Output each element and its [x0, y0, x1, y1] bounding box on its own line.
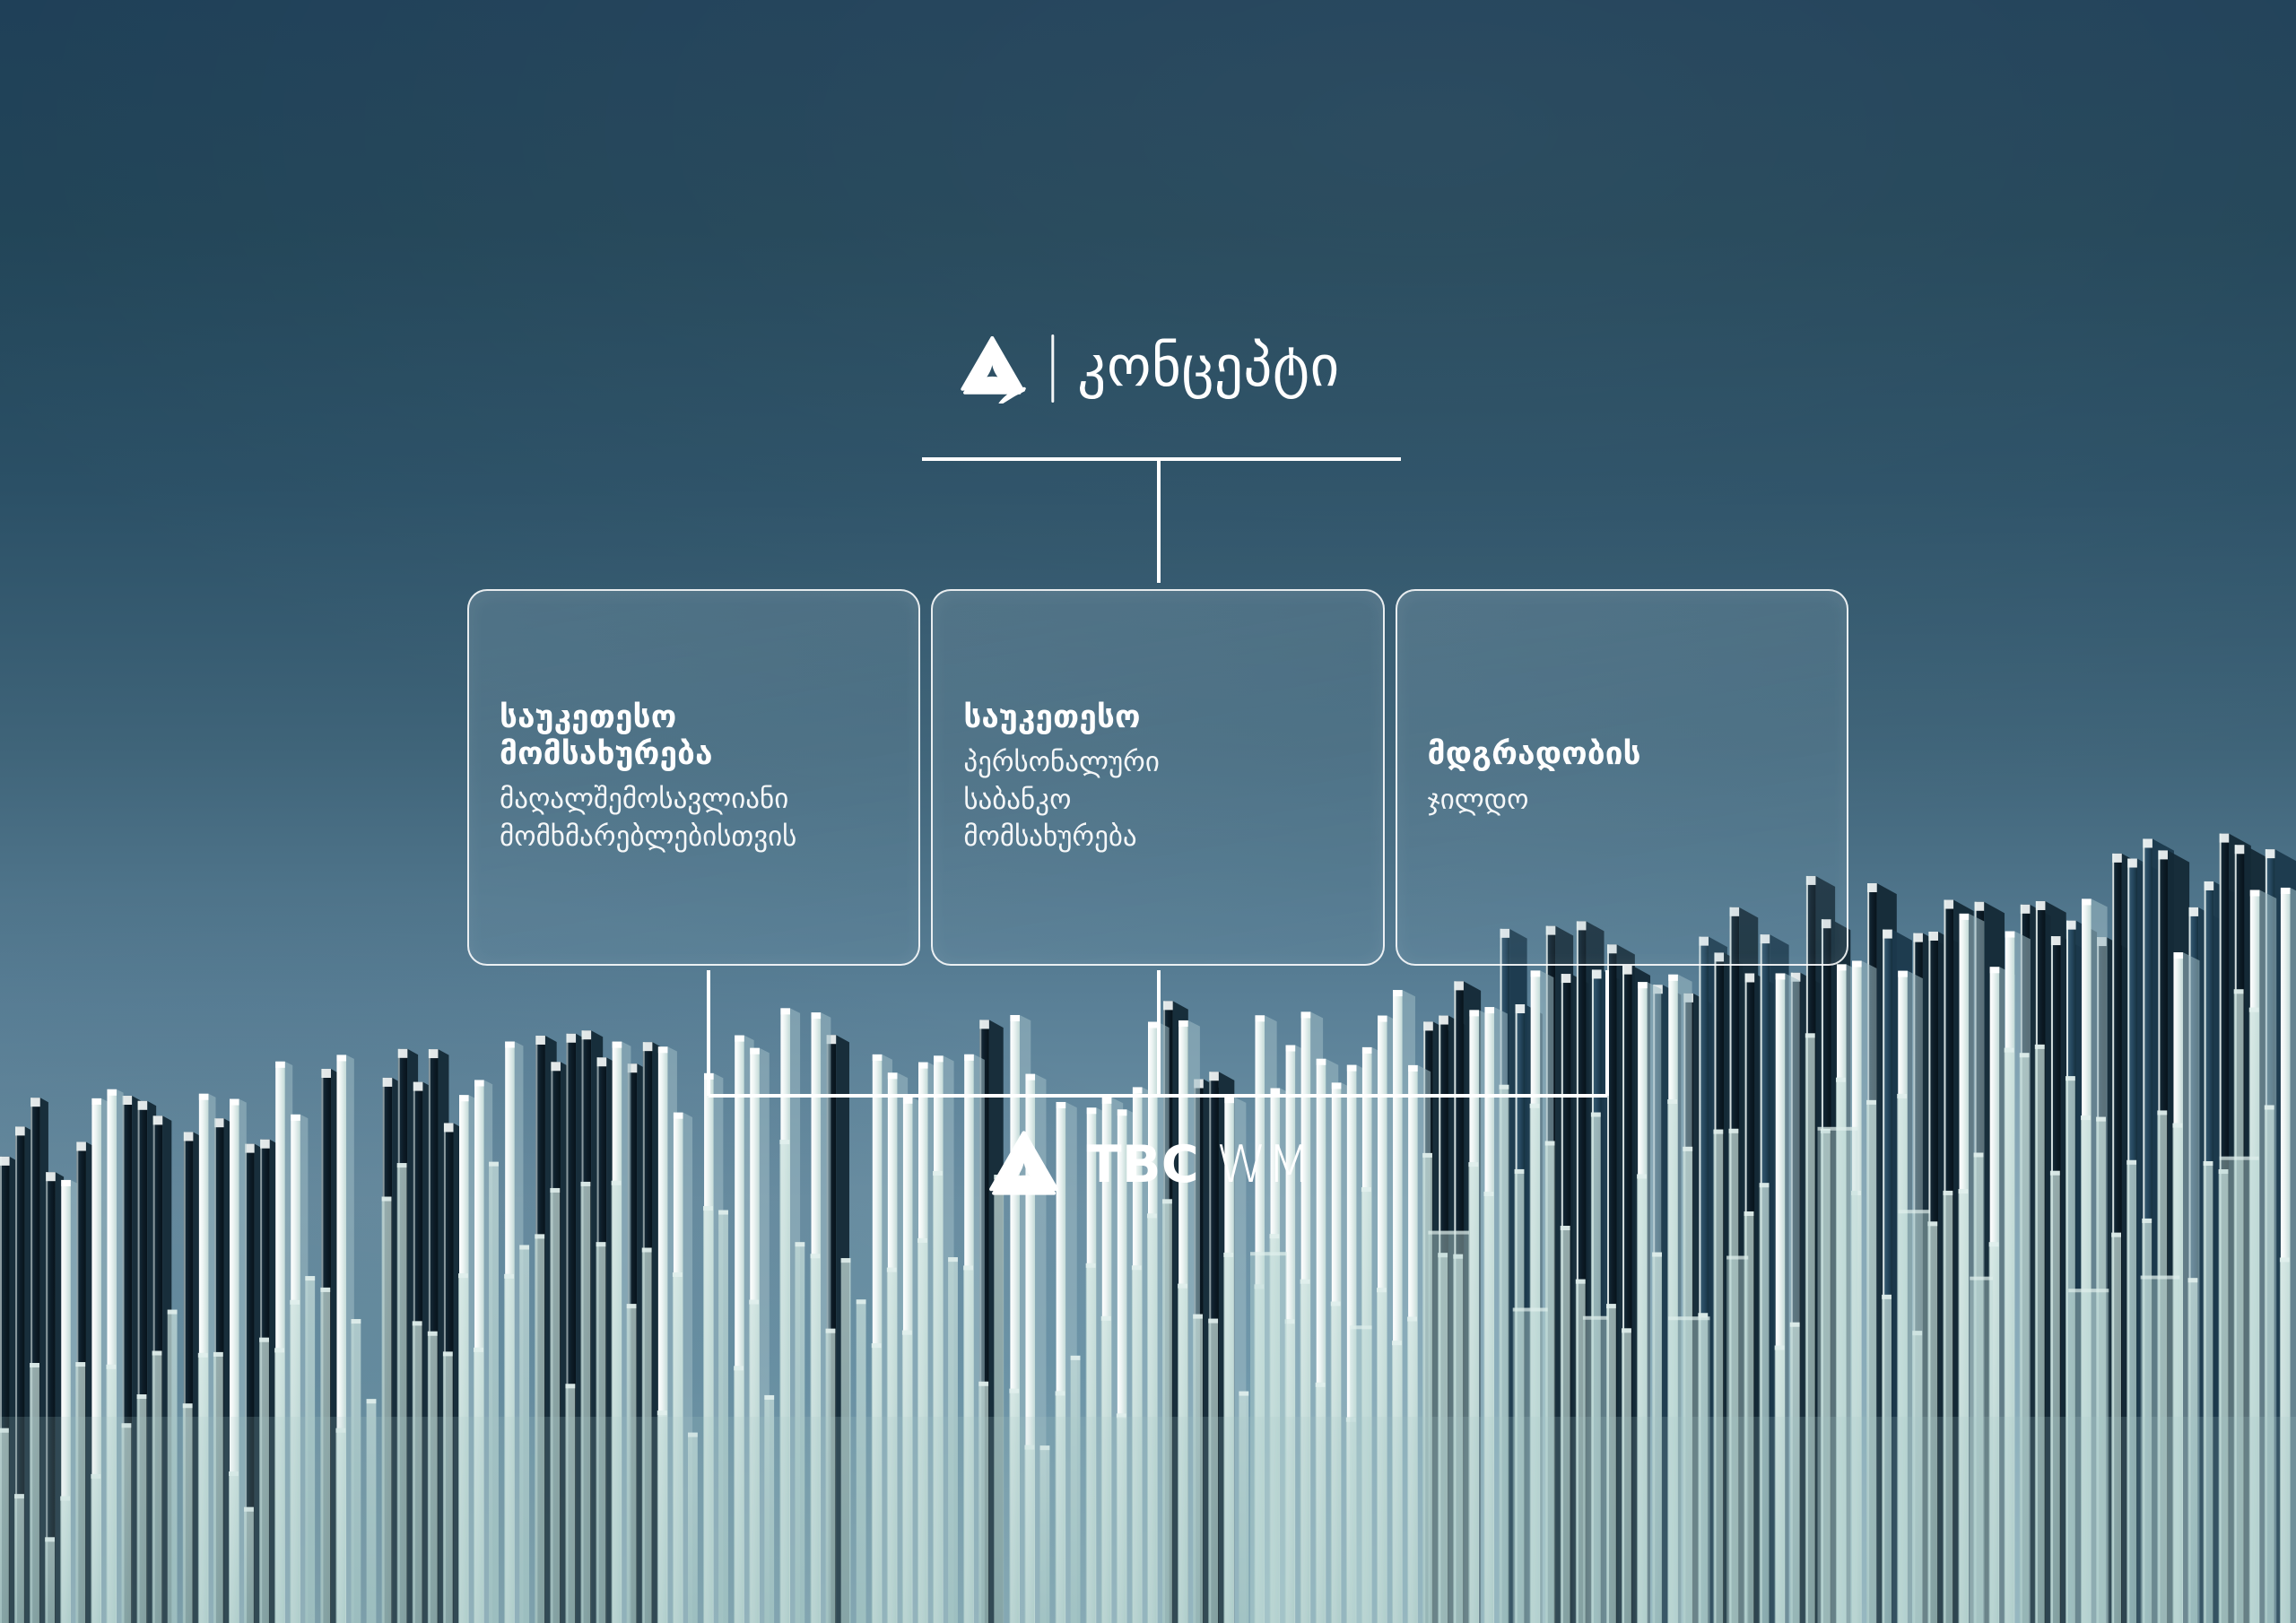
concept-card[interactable]: საუკეთესო პერსონალური საბანკო მომსახურებ…: [931, 589, 1384, 966]
diagram-header: კონცეპტი: [956, 334, 1339, 404]
header-divider: [1051, 334, 1054, 403]
card-title: მდგრადობის: [1428, 736, 1816, 773]
poster-canvas: კონცეპტი საუკეთესო მომსახურება მაღალშემო…: [0, 0, 2296, 1623]
card-subtitle: პერსონალური საბანკო მომსახურება: [963, 744, 1352, 855]
concept-card-row: საუკეთესო მომსახურება მაღალშემოსავლიანი …: [467, 589, 1848, 966]
brand-secondary: WM: [1216, 1135, 1312, 1194]
page-title: კონცეპტი: [1077, 338, 1339, 400]
brand-wordmark: TBC WM: [1087, 1140, 1312, 1194]
card-title: საუკეთესო მომსახურება: [500, 699, 888, 772]
concept-card[interactable]: მდგრადობის ჯილდო: [1396, 589, 1848, 966]
tbc-triangle-logo-icon: [956, 334, 1028, 404]
tbc-triangle-logo-icon: [985, 1128, 1064, 1205]
concept-card[interactable]: საუკეთესო მომსახურება მაღალშემოსავლიანი …: [467, 589, 920, 966]
card-subtitle: ჯილდო: [1428, 782, 1816, 819]
card-subtitle: მაღალშემოსავლიანი მომხმარებლებისთვის: [500, 781, 888, 855]
brand-lockup: TBC WM: [985, 1128, 1312, 1205]
brand-primary: TBC: [1087, 1135, 1200, 1194]
card-title: საუკეთესო: [963, 699, 1352, 736]
concept-diagram: კონცეპტი საუკეთესო მომსახურება მაღალშემო…: [0, 0, 2296, 1623]
